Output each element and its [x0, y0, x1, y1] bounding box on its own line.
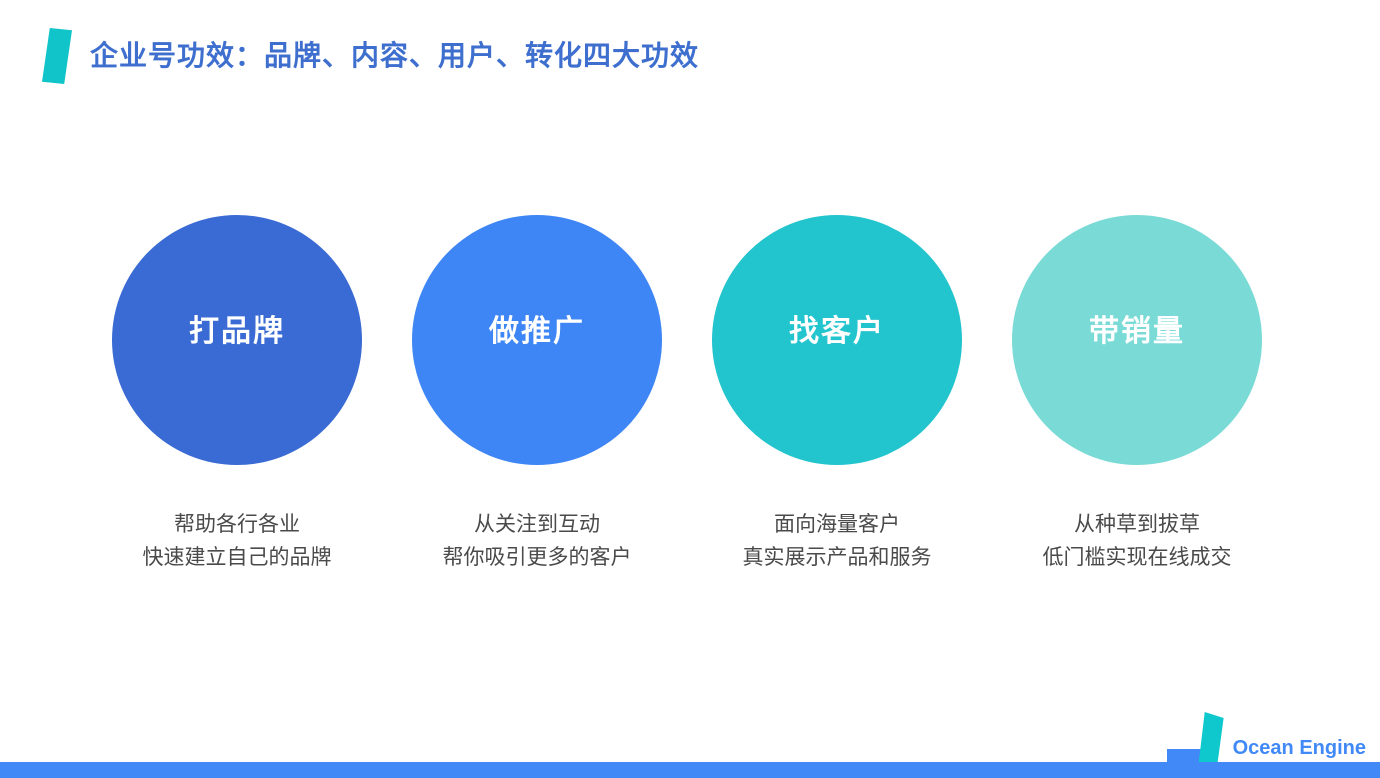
feature-column-3: 找客户 面向海量客户 真实展示产品和服务 — [687, 215, 987, 574]
slide-canvas: 企业号功效：品牌、内容、用户、转化四大功效 打品牌 帮助各行各业 快速建立自己的… — [0, 0, 1380, 778]
feature-circle-label-2: 做推广 — [489, 317, 585, 347]
feature-circle-1[interactable]: 打品牌 — [112, 215, 362, 465]
feature-circle-2[interactable]: 做推广 — [412, 215, 662, 465]
feature-caption-2-line2: 帮你吸引更多的客户 — [443, 542, 632, 575]
feature-circle-label-4: 带销量 — [1089, 317, 1185, 347]
ocean-engine-logo-text: Ocean Engine — [1233, 738, 1366, 762]
ocean-engine-logo: Ocean Engine — [1175, 706, 1366, 762]
feature-caption-2-line1: 从关注到互动 — [443, 509, 632, 542]
feature-circle-3[interactable]: 找客户 — [712, 215, 962, 465]
logo-mark-cyan-parallelogram-icon — [1197, 712, 1224, 762]
logo-mark-blue-bar-icon — [1167, 749, 1205, 762]
feature-column-2: 做推广 从关注到互动 帮你吸引更多的客户 — [387, 215, 687, 574]
feature-caption-3-line1: 面向海量客户 — [743, 509, 932, 542]
feature-caption-3-line2: 真实展示产品和服务 — [743, 542, 932, 575]
feature-caption-4: 从种草到拔草 低门槛实现在线成交 — [1043, 509, 1232, 574]
feature-caption-2: 从关注到互动 帮你吸引更多的客户 — [443, 509, 632, 574]
feature-caption-1-line2: 快速建立自己的品牌 — [143, 542, 332, 575]
footer-bar — [0, 762, 1380, 778]
feature-circle-label-3: 找客户 — [789, 317, 885, 347]
feature-caption-1-line1: 帮助各行各业 — [143, 509, 332, 542]
ocean-engine-logo-mark-icon — [1175, 712, 1231, 762]
feature-circle-4[interactable]: 带销量 — [1012, 215, 1262, 465]
slide-title-row: 企业号功效：品牌、内容、用户、转化四大功效 — [42, 30, 699, 82]
feature-caption-1: 帮助各行各业 快速建立自己的品牌 — [143, 509, 332, 574]
feature-caption-3: 面向海量客户 真实展示产品和服务 — [743, 509, 932, 574]
page-title: 企业号功效：品牌、内容、用户、转化四大功效 — [90, 42, 699, 70]
feature-column-4: 带销量 从种草到拔草 低门槛实现在线成交 — [987, 215, 1287, 574]
title-marker-parallelogram-icon — [42, 28, 72, 84]
feature-circle-label-1: 打品牌 — [189, 317, 285, 347]
feature-columns: 打品牌 帮助各行各业 快速建立自己的品牌 做推广 从关注到互动 帮你吸引更多的客… — [0, 215, 1380, 574]
feature-column-1: 打品牌 帮助各行各业 快速建立自己的品牌 — [87, 215, 387, 574]
feature-caption-4-line1: 从种草到拔草 — [1043, 509, 1232, 542]
feature-caption-4-line2: 低门槛实现在线成交 — [1043, 542, 1232, 575]
